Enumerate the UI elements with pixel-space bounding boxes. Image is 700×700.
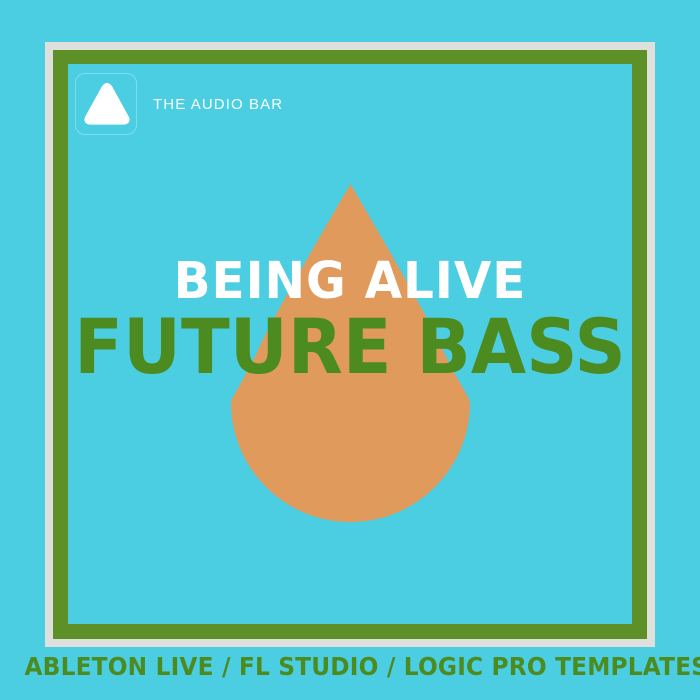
album-artwork: THE AUDIO BAR BEING ALIVE FUTURE BASS AB… [0,0,700,700]
title-group: BEING ALIVE FUTURE BASS [0,254,700,386]
brand-name-label: THE AUDIO BAR [153,97,283,112]
footer-strip: ABLETON LIVE / FL STUDIO / LOGIC PRO TEM… [0,652,700,682]
genre-title: FUTURE BASS [21,308,679,386]
triangle-logo-icon [75,73,137,135]
brand-logo-block[interactable]: THE AUDIO BAR [75,68,283,140]
daw-formats-label: ABLETON LIVE / FL STUDIO / LOGIC PRO TEM… [25,652,676,682]
